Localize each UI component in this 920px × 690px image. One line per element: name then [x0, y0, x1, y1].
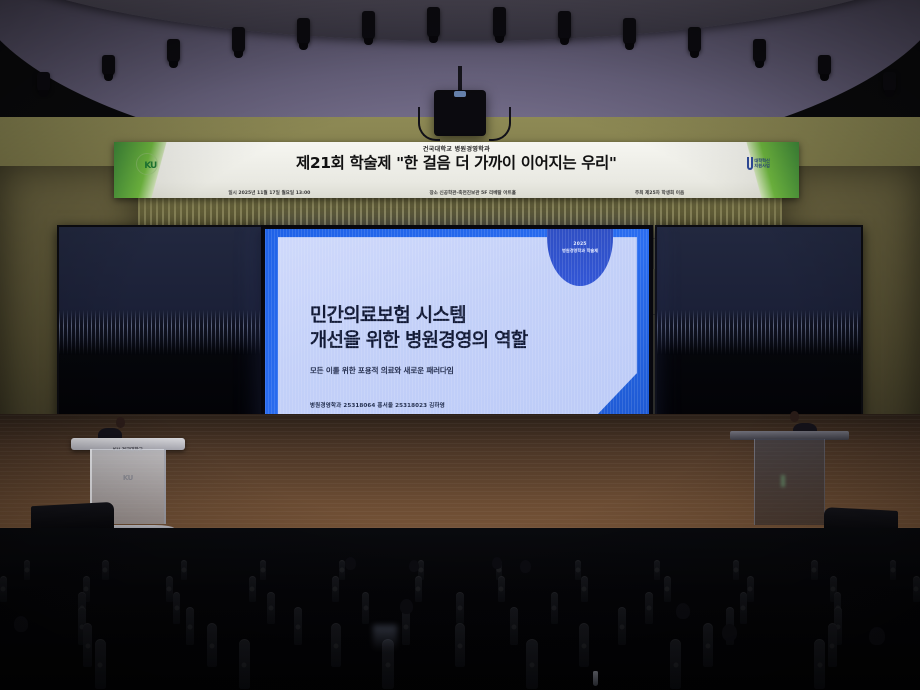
- seat-knob: [24, 568, 29, 573]
- stage-light: [232, 27, 245, 53]
- audience-member-head: [14, 616, 28, 632]
- seat-knob: [529, 663, 534, 668]
- presentation-slide: 민간의료보험 시스템 개선을 위한 병원경영의 역할 모든 이를 위한 포용적 …: [265, 229, 649, 434]
- seat-knob: [182, 568, 187, 573]
- audience-seat: [239, 639, 250, 689]
- audience-seat: [95, 639, 106, 689]
- audience-member-head: [676, 603, 690, 619]
- projection-screen: 민간의료보험 시스템 개선을 위한 병원경영의 역할 모든 이를 위한 포용적 …: [261, 225, 653, 438]
- podium-right: [747, 431, 832, 530]
- stage-light: [427, 7, 440, 38]
- banner-meta-row: 일시 2025년 11월 17일 월요일 13:00 장소 신공학관-축천진보관…: [169, 190, 744, 196]
- stage-light: [493, 7, 506, 38]
- audience-member-head: [520, 560, 531, 573]
- audience-member-head: [409, 560, 419, 572]
- panel-pleat-texture-right: [657, 310, 861, 355]
- water-bottle: [593, 671, 598, 686]
- seat-knob: [386, 663, 391, 668]
- audience-member-head: [492, 557, 502, 569]
- stage-light: [102, 55, 115, 77]
- stage-light: [37, 72, 50, 92]
- podium-left-mark: KU: [123, 474, 133, 482]
- display-panel-left: [57, 225, 265, 435]
- banner-meta-place: 장소 신공학관-축천진보관 5F 리베랄 아트홀: [429, 190, 516, 196]
- slide-title-line-2: 개선을 위한 병원경영의 역할: [310, 328, 528, 352]
- seat-knob: [733, 568, 738, 573]
- projector-lens: [454, 91, 466, 97]
- seat-knob: [261, 568, 266, 573]
- slide-title: 민간의료보험 시스템 개선을 위한 병원경영의 역할: [310, 303, 528, 352]
- badge-year: 2025: [573, 242, 586, 247]
- display-panel-right: [655, 225, 863, 435]
- audience-member-head: [400, 599, 413, 614]
- podium-right-body: [754, 439, 825, 524]
- banner-meta-host: 주최 제25차 학생회 이음: [635, 190, 684, 196]
- audience-member-head: [722, 624, 737, 641]
- stage-light: [558, 11, 571, 40]
- seat-knob: [673, 663, 678, 668]
- audience-seat: [526, 639, 537, 689]
- stage-light: [623, 18, 636, 45]
- badge-event-name: 병원경영학과 학술제: [562, 248, 598, 254]
- innovation-logo-text: 대학혁신 지원사업: [754, 158, 769, 169]
- audience-seat: [670, 639, 681, 689]
- stage-light: [297, 18, 310, 45]
- seat-knob: [891, 568, 896, 573]
- innovation-program-logo: 대학혁신 지원사업: [747, 157, 770, 170]
- auditorium-photo: KU 건국대학교 병원경영학과 제21회 학술제 "한 걸음 더 가까이 이어지…: [0, 0, 920, 690]
- seat-knob: [812, 568, 817, 573]
- speaker-right-head: [790, 411, 799, 422]
- audience-seating: [0, 528, 920, 690]
- seat-knob: [242, 663, 247, 668]
- stage-light: [167, 39, 180, 63]
- speaker-left-head: [116, 417, 125, 428]
- seat-knob: [103, 568, 108, 573]
- audience-member-head: [869, 627, 885, 645]
- banner-meta-date: 일시 2025년 11월 17일 월요일 13:00: [228, 190, 310, 196]
- panel-pleat-texture-left: [59, 310, 263, 355]
- seat-row: [0, 639, 920, 689]
- seat-knob: [339, 568, 344, 573]
- ceiling-projector: [434, 90, 486, 136]
- audience-seat: [814, 639, 825, 689]
- stage-light: [883, 72, 896, 92]
- audience-member-head: [345, 557, 356, 570]
- innovation-logo-mark: [747, 157, 753, 170]
- slide-subtitle: 모든 이를 위한 포용적 의료와 새로운 패러다임: [310, 365, 454, 376]
- stage-light: [362, 11, 375, 40]
- banner-main-title: 제21회 학술제 "한 걸음 더 가까이 이어지는 우리": [114, 151, 798, 173]
- seat-knob: [576, 568, 581, 573]
- stage-light: [753, 39, 766, 63]
- stage-light: [688, 27, 701, 53]
- slide-authors: 병원경영학과 25318064 홍서율 25318023 김하영: [310, 401, 445, 409]
- aisle-light-glow: [373, 625, 397, 651]
- seat-knob: [817, 663, 822, 668]
- event-banner: KU 건국대학교 병원경영학과 제21회 학술제 "한 걸음 더 가까이 이어지…: [114, 142, 798, 198]
- podium-right-indicator: [781, 475, 785, 487]
- seat-knob: [654, 568, 659, 573]
- slide-title-line-1: 민간의료보험 시스템: [310, 303, 528, 327]
- stage-light: [818, 55, 831, 77]
- seat-knob: [98, 663, 103, 668]
